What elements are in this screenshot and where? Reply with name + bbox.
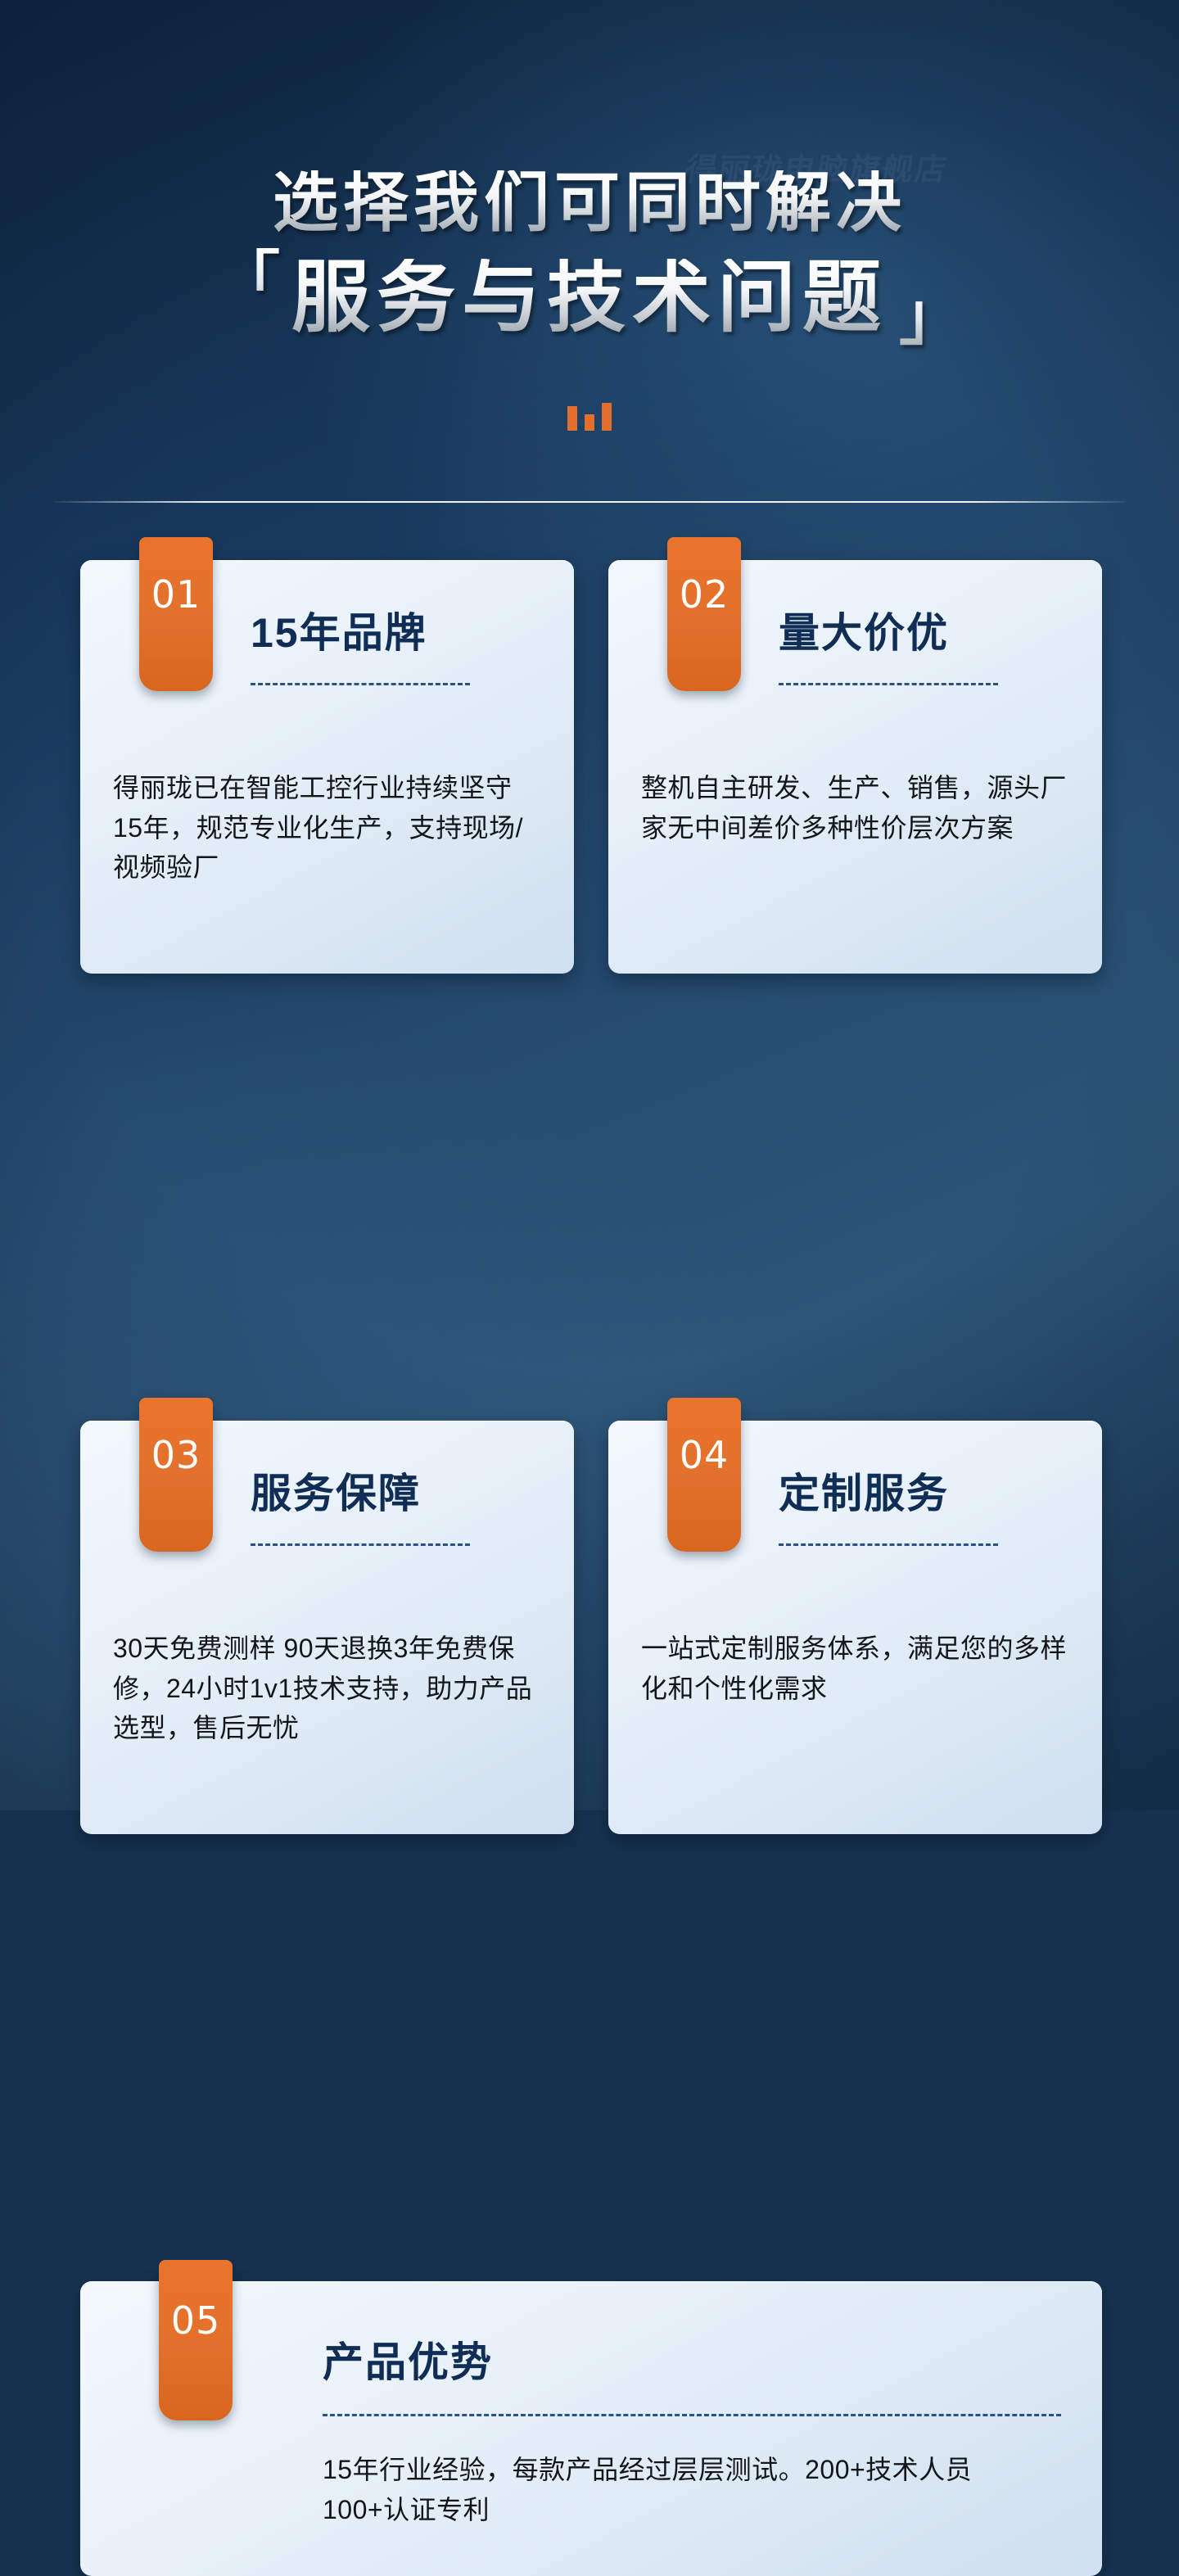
card-header: 产品优势 — [323, 2342, 1073, 2416]
accent-bars-icon — [0, 403, 1179, 431]
page-title-line2: 服务与技术问题 — [291, 259, 888, 337]
card-number: 05 — [171, 2302, 221, 2339]
card-body-text: 得丽珑已在智能工控行业持续坚守15年，规范专业化生产，支持现场/视频验厂 — [113, 768, 540, 888]
card-number-tab: 02 — [667, 537, 741, 691]
card-header: 服务保障 — [251, 1473, 544, 1546]
card-dashed-rule — [251, 1543, 470, 1546]
feature-row-3: 05 产品优势 15年行业经验，每款产品经过层层测试。200+技术人员 100+… — [80, 2281, 1102, 2576]
page-title-line2-wrap: 「 服务与技术问题 」 — [0, 259, 1179, 337]
accent-bar-2 — [585, 414, 594, 431]
feature-row-1: 01 15年品牌 得丽珑已在智能工控行业持续坚守15年，规范专业化生产，支持现场… — [80, 560, 1102, 974]
card-number-tab: 05 — [159, 2260, 233, 2420]
card-number: 02 — [680, 576, 730, 613]
page-root: 选择我们可同时解决 「 服务与技术问题 」 01 15年品牌 得丽珑已在智 — [0, 0, 1179, 1810]
card-dashed-rule — [779, 683, 998, 685]
card-header: 定制服务 — [779, 1473, 1073, 1546]
bracket-right-icon: 」 — [899, 284, 963, 348]
card-title: 定制服务 — [779, 1473, 1073, 1514]
bracket-left-icon: 「 — [216, 248, 280, 312]
card-number: 04 — [680, 1436, 730, 1474]
accent-bar-1 — [567, 406, 577, 431]
feature-cards-grid: 01 15年品牌 得丽珑已在智能工控行业持续坚守15年，规范专业化生产，支持现场… — [80, 560, 1102, 2576]
feature-row-2: 03 服务保障 30天免费测样 90天退换3年免费保修，24小时1v1技术支持，… — [80, 1421, 1102, 1834]
card-body-text: 15年行业经验，每款产品经过层层测试。200+技术人员 100+认证专利 — [323, 2450, 1053, 2529]
card-number-tab: 03 — [139, 1398, 213, 1552]
card-number: 01 — [151, 576, 201, 613]
card-title: 产品优势 — [323, 2342, 1073, 2383]
card-body-text: 整机自主研发、生产、销售，源头厂家无中间差价多种性价层次方案 — [641, 768, 1068, 847]
accent-bar-3 — [602, 403, 612, 431]
card-number-tab: 04 — [667, 1398, 741, 1552]
card-number: 03 — [151, 1436, 201, 1474]
card-title: 量大价优 — [779, 612, 1073, 653]
feature-card-01[interactable]: 01 15年品牌 得丽珑已在智能工控行业持续坚守15年，规范专业化生产，支持现场… — [80, 560, 574, 974]
card-header: 量大价优 — [779, 612, 1073, 685]
feature-card-03[interactable]: 03 服务保障 30天免费测样 90天退换3年免费保修，24小时1v1技术支持，… — [80, 1421, 574, 1834]
card-number-tab: 01 — [139, 537, 213, 691]
card-title: 15年品牌 — [251, 612, 544, 653]
feature-card-04[interactable]: 04 定制服务 一站式定制服务体系，满足您的多样化和个性化需求 — [608, 1421, 1102, 1834]
card-title: 服务保障 — [251, 1473, 544, 1514]
card-dashed-rule — [323, 2414, 1061, 2416]
card-header: 15年品牌 — [251, 612, 544, 685]
card-body-text: 30天免费测样 90天退换3年免费保修，24小时1v1技术支持，助力产品选型，售… — [113, 1629, 540, 1748]
card-dashed-rule — [779, 1543, 998, 1546]
card-body-text: 一站式定制服务体系，满足您的多样化和个性化需求 — [641, 1629, 1068, 1708]
header-divider — [54, 501, 1125, 503]
feature-card-02[interactable]: 02 量大价优 整机自主研发、生产、销售，源头厂家无中间差价多种性价层次方案 — [608, 560, 1102, 974]
card-dashed-rule — [251, 683, 470, 685]
page-title-line1: 选择我们可同时解决 — [0, 170, 1179, 236]
feature-card-05[interactable]: 05 产品优势 15年行业经验，每款产品经过层层测试。200+技术人员 100+… — [80, 2281, 1102, 2576]
